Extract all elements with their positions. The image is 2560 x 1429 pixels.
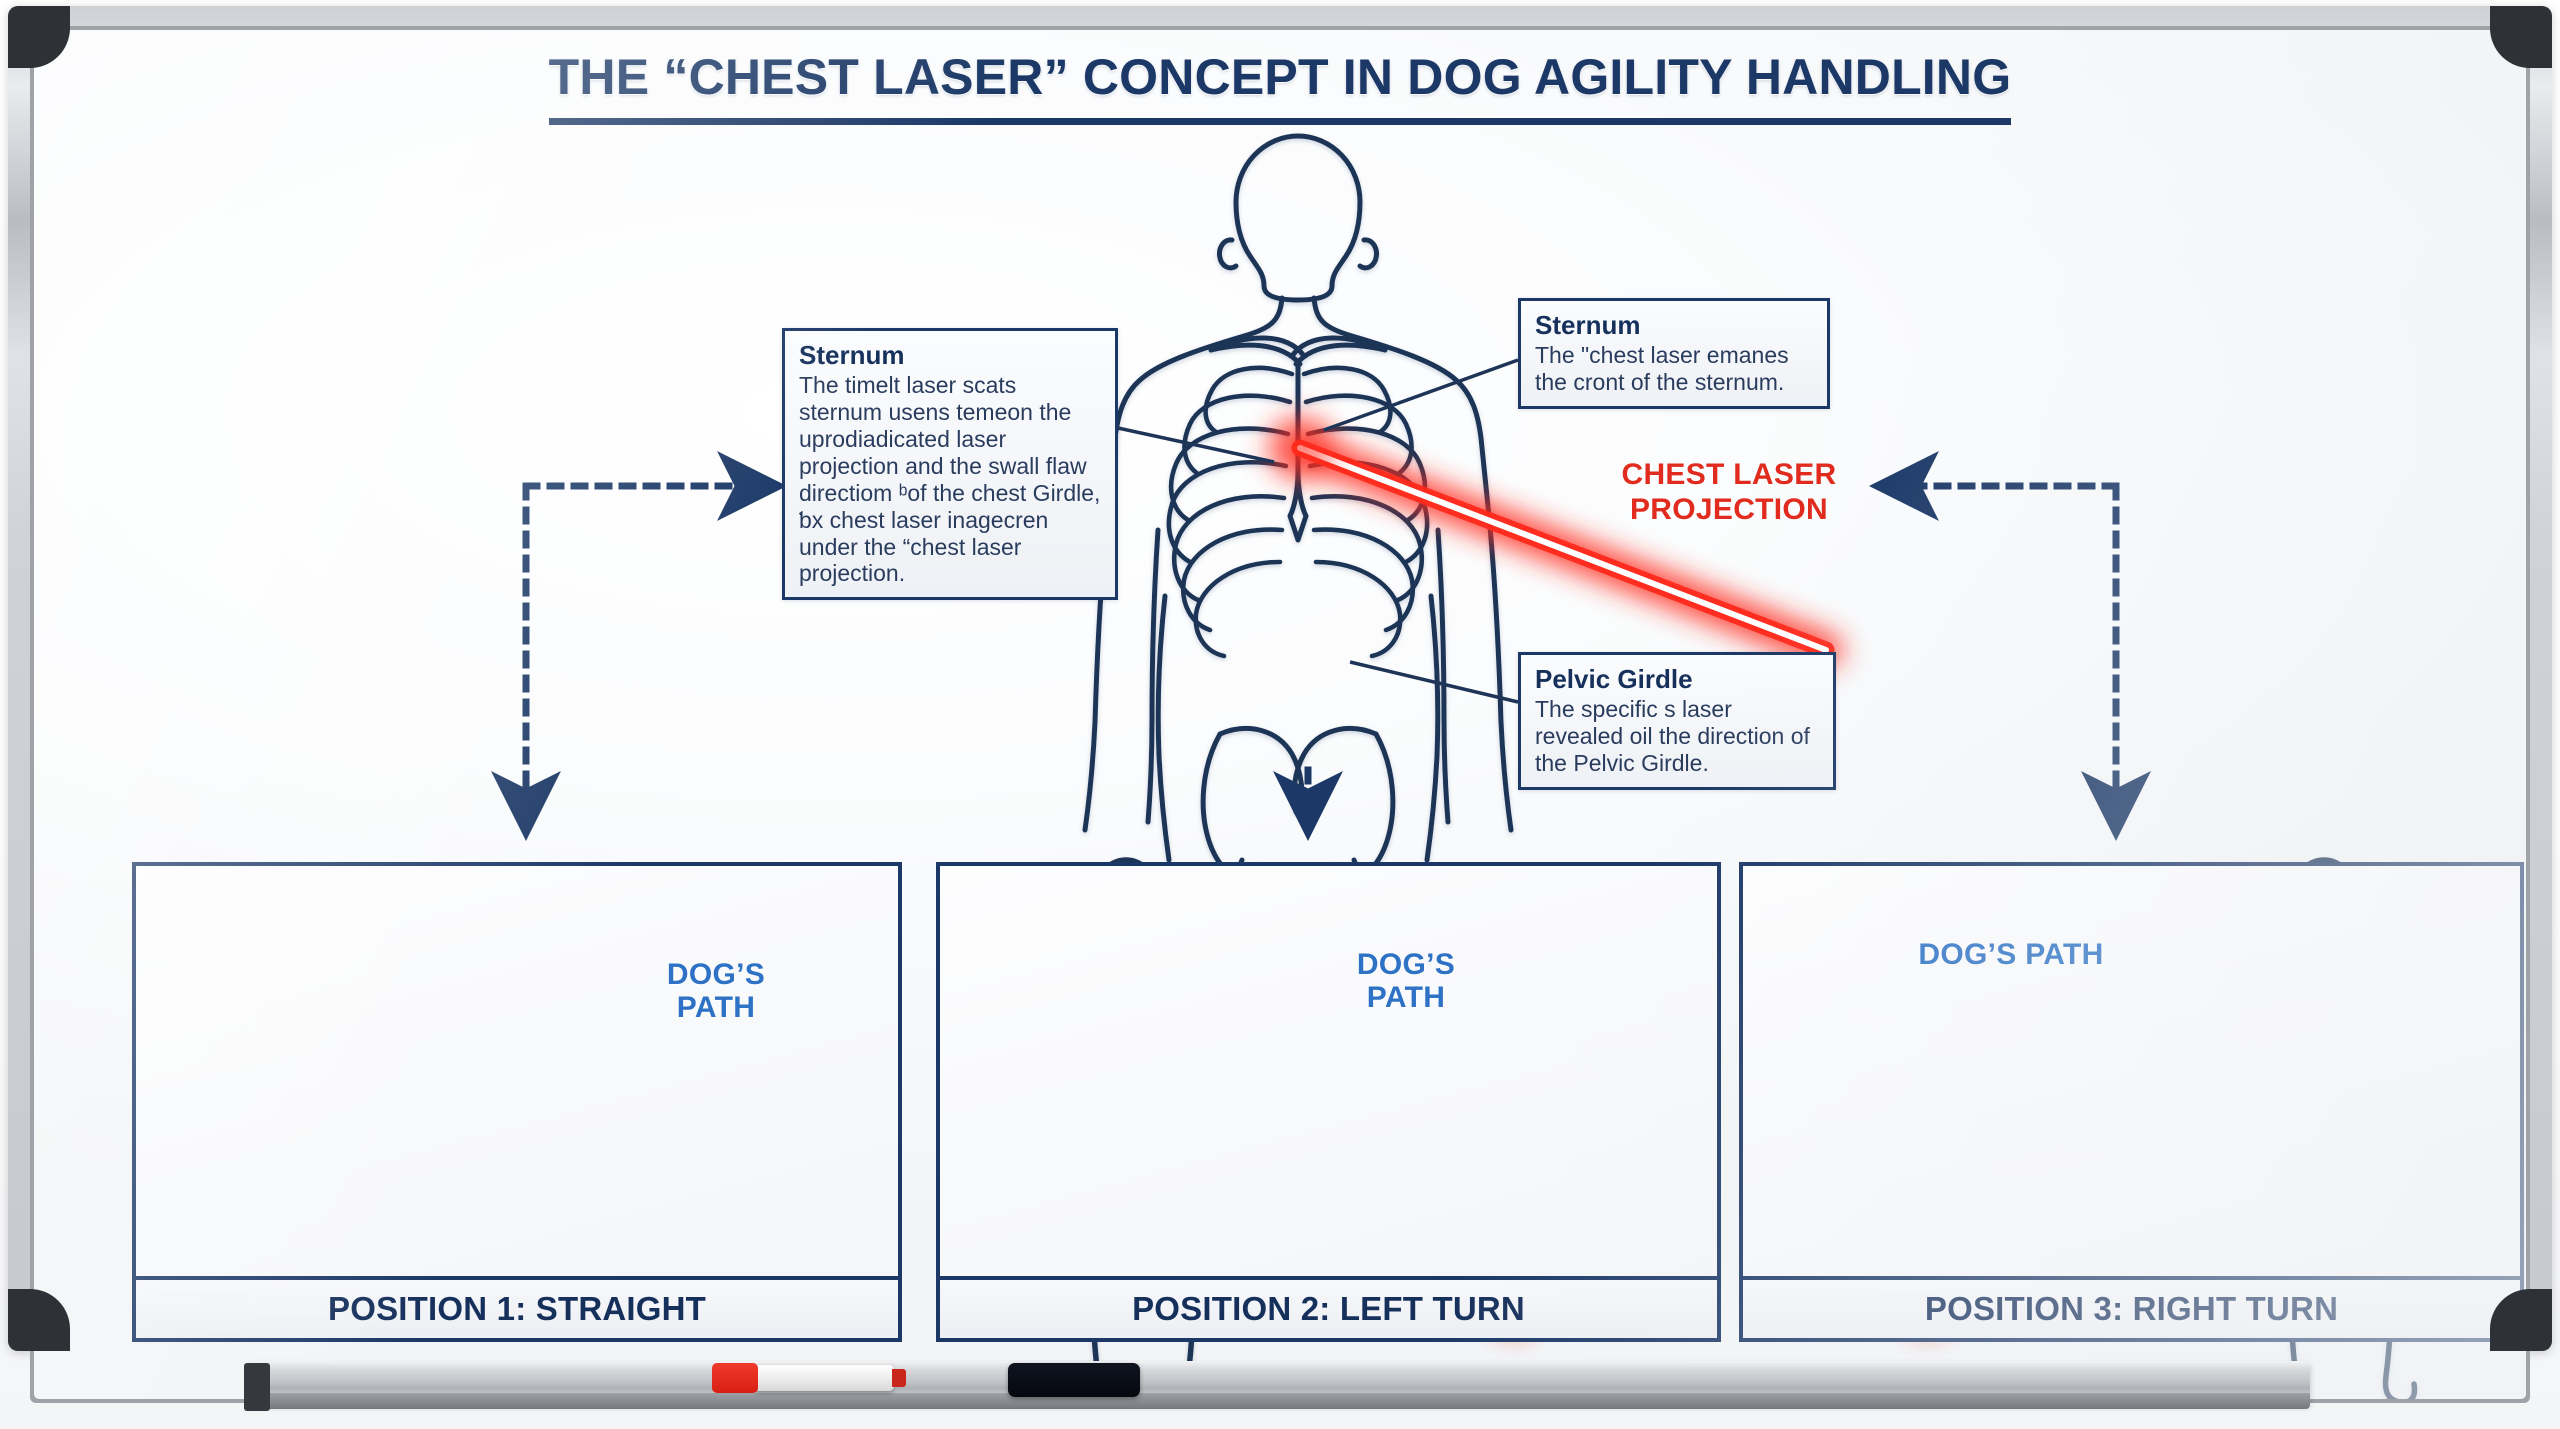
- panel-position-2: POSITION 2: LEFT TURN: [936, 862, 1721, 1342]
- ear-left: [1220, 240, 1236, 268]
- dogs-path-label-2: DOG’S PATH: [1306, 948, 1506, 1014]
- dogs-path-label-3: DOG’S PATH: [1886, 938, 2136, 971]
- ear-right: [1360, 240, 1376, 268]
- dogs-path-label-2-line2: PATH: [1306, 981, 1506, 1014]
- clavicle-right-2: [1296, 345, 1385, 364]
- laser-origin-glow: [1266, 414, 1334, 482]
- whiteboard-surface: THE “CHEST LASER” CONCEPT IN DOG AGILITY…: [34, 30, 2526, 1399]
- chest-laser-projection-label-line2: PROJECTION: [1604, 493, 1854, 528]
- arm-right: [1489, 516, 1511, 830]
- whiteboard-marker[interactable]: [754, 1365, 894, 1391]
- panel-position-1: POSITION 1: STRAIGHT: [132, 862, 902, 1342]
- whiteboard-root: THE “CHEST LASER” CONCEPT IN DOG AGILITY…: [0, 0, 2560, 1429]
- callout-pelvic-girdle-title: Pelvic Girdle: [1535, 665, 1821, 694]
- panel-position-2-caption: POSITION 2: LEFT TURN: [940, 1276, 1717, 1338]
- panel-position-3-caption: POSITION 3: RIGHT TURN: [1743, 1276, 2520, 1338]
- marker-tail: [892, 1369, 906, 1387]
- callout-pelvic-girdle-body: The specific s laser revealed oil the di…: [1535, 696, 1821, 777]
- panel-connectors: [526, 486, 2116, 820]
- callout-sternum-right: Sternum The "chest laser emanes the cron…: [1518, 298, 1830, 409]
- marker-tray: [250, 1347, 2310, 1421]
- panel-position-1-body: [136, 866, 898, 1276]
- leader-sternum-left: [1118, 428, 1274, 462]
- waist-right: [1427, 596, 1438, 860]
- marker-tray-lip: [250, 1393, 2310, 1409]
- torso-outline: [1107, 298, 1282, 516]
- leader-pelvic: [1350, 662, 1518, 702]
- chest-laser-projection-label-line1: CHEST LASER: [1604, 458, 1854, 493]
- dogs-path-label-1-line1: DOG’S: [616, 958, 816, 991]
- callout-sternum-right-title: Sternum: [1535, 311, 1815, 340]
- chest-laser-projection-label: CHEST LASER PROJECTION: [1604, 458, 1854, 527]
- panel-position-2-body: [940, 866, 1717, 1276]
- callout-sternum-left-title: Sternum: [799, 341, 1103, 370]
- dogs-path-label-3-line1: DOG’S PATH: [1886, 938, 2136, 971]
- diagram-content: THE “CHEST LASER” CONCEPT IN DOG AGILITY…: [34, 30, 2526, 1399]
- marker-cap: [712, 1363, 758, 1393]
- waist-left: [1158, 596, 1169, 860]
- dogs-path-label-2-line1: DOG’S: [1306, 948, 1506, 981]
- panel-position-3-body: [1743, 866, 2520, 1276]
- callout-sternum-left-body: The timelt laser scats sternum usens tem…: [799, 372, 1103, 587]
- whiteboard-eraser[interactable]: [1008, 1363, 1140, 1397]
- skull-outline: [1236, 136, 1360, 300]
- marker-tray-end-cap: [244, 1363, 270, 1411]
- callout-sternum-left: Sternum The timelt laser scats sternum u…: [782, 328, 1118, 600]
- rib-cage-left: [1169, 368, 1292, 656]
- rib-cage-right: [1304, 368, 1427, 656]
- callout-sternum-right-body: The "chest laser emanes the cront of the…: [1535, 342, 1815, 396]
- panel-position-3: POSITION 3: RIGHT TURN: [1739, 862, 2524, 1342]
- dogs-path-label-1-line2: PATH: [616, 991, 816, 1024]
- dogs-path-label-1: DOG’S PATH: [616, 958, 816, 1024]
- panel-position-1-caption: POSITION 1: STRAIGHT: [136, 1276, 898, 1338]
- clavicle-left-2: [1211, 345, 1300, 364]
- callout-pelvic-girdle: Pelvic Girdle The specific s laser revea…: [1518, 652, 1836, 790]
